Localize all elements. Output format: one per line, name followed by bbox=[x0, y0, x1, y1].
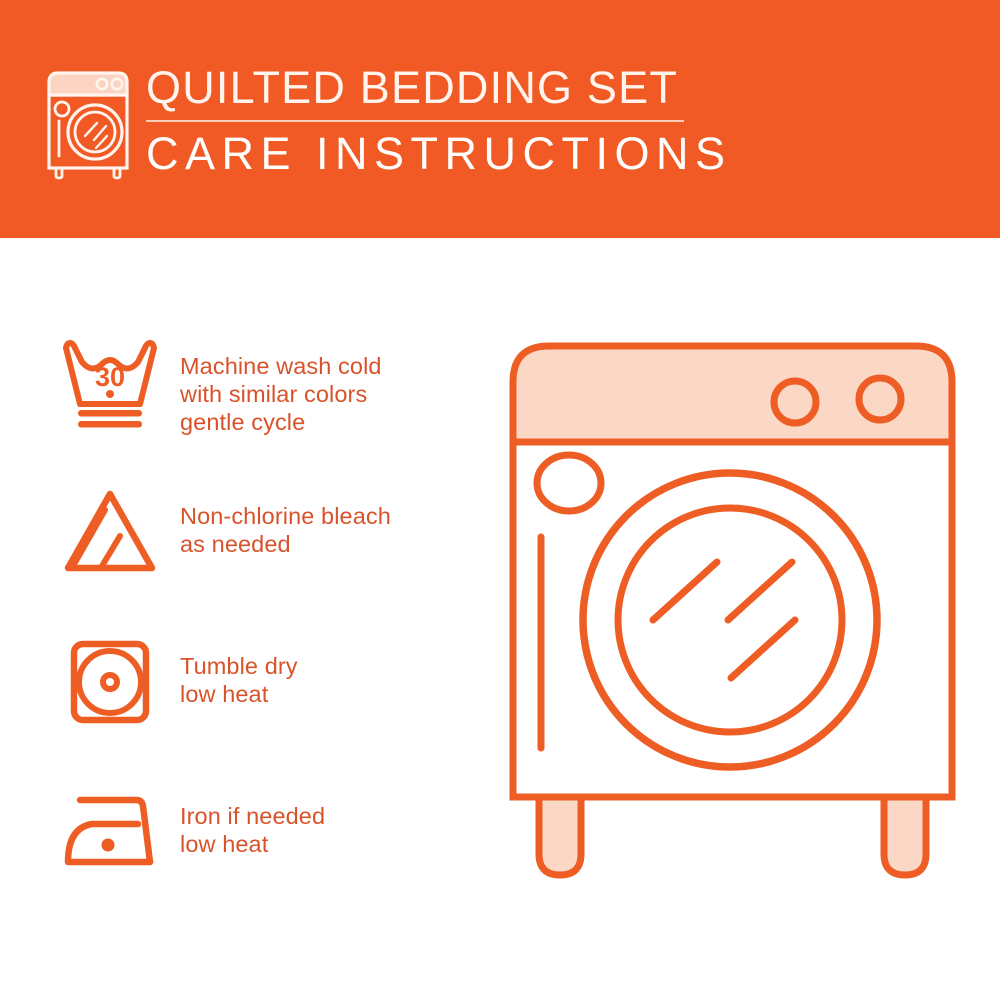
list-item: Iron if needed low heat bbox=[40, 780, 480, 930]
header-divider bbox=[146, 120, 684, 122]
care-instructions-list: 30 Machine wash cold with similar colors… bbox=[40, 330, 480, 930]
header-text-block: QUILTED BEDDING SET CARE INSTRUCTIONS bbox=[146, 62, 746, 180]
list-item: 30 Machine wash cold with similar colors… bbox=[40, 330, 480, 480]
header-band: QUILTED BEDDING SET CARE INSTRUCTIONS bbox=[0, 0, 1000, 238]
page-subtitle: CARE INSTRUCTIONS bbox=[146, 128, 746, 180]
instruction-line: gentle cycle bbox=[180, 408, 382, 436]
iron-low-heat-icon bbox=[40, 780, 180, 880]
wash-temperature-label: 30 bbox=[95, 362, 125, 392]
tumble-dry-low-heat-icon bbox=[40, 630, 180, 730]
instruction-line: Tumble dry bbox=[180, 652, 298, 680]
instruction-text: Non-chlorine bleach as needed bbox=[180, 480, 391, 558]
list-item: Non-chlorine bleach as needed bbox=[40, 480, 480, 630]
front-load-washing-machine-illustration bbox=[485, 330, 980, 945]
leg-right bbox=[884, 797, 926, 875]
instruction-text: Machine wash cold with similar colors ge… bbox=[180, 330, 382, 436]
control-panel bbox=[513, 346, 952, 442]
leg-left bbox=[539, 797, 581, 875]
page-title: QUILTED BEDDING SET bbox=[146, 62, 746, 114]
instruction-text: Tumble dry low heat bbox=[180, 630, 298, 708]
instruction-line: Non-chlorine bleach bbox=[180, 502, 391, 530]
instruction-line: low heat bbox=[180, 830, 325, 858]
instruction-text: Iron if needed low heat bbox=[180, 780, 325, 858]
list-item: Tumble dry low heat bbox=[40, 630, 480, 780]
instruction-line: with similar colors bbox=[180, 380, 382, 408]
instruction-line: as needed bbox=[180, 530, 391, 558]
instruction-line: Machine wash cold bbox=[180, 352, 382, 380]
non-chlorine-bleach-triangle-icon bbox=[40, 480, 180, 580]
instruction-line: Iron if needed bbox=[180, 802, 325, 830]
wash-tub-30-gentle-icon: 30 bbox=[40, 330, 180, 430]
washing-machine-icon bbox=[44, 68, 136, 180]
instruction-line: low heat bbox=[180, 680, 298, 708]
